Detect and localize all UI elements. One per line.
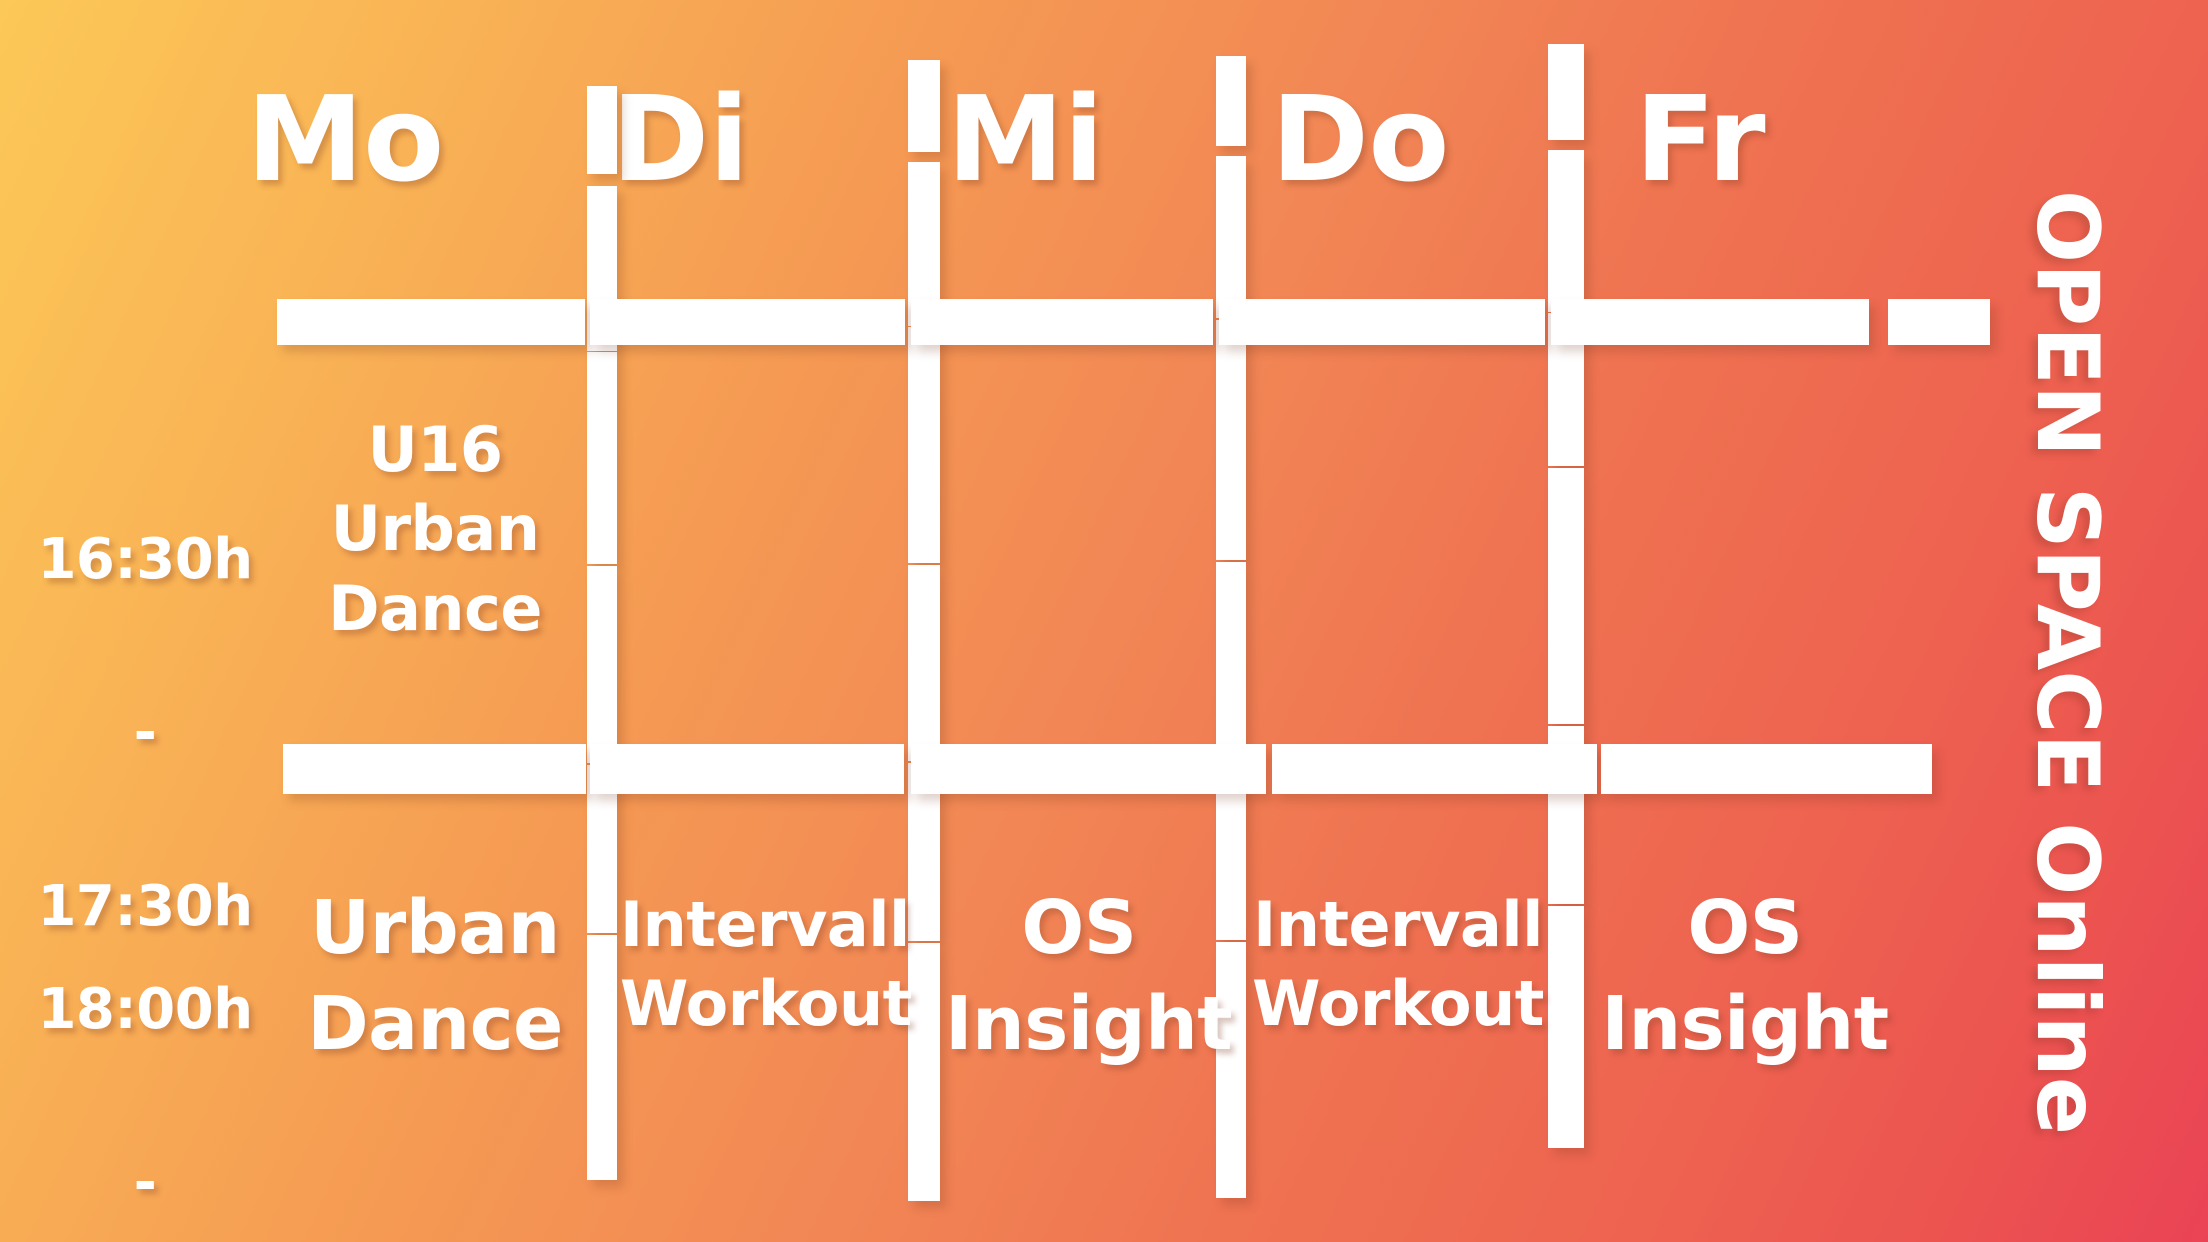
class-cell-mo-1630[interactable]: U16 Urban Dance [285, 410, 585, 648]
class-cell-mo-1800[interactable]: Urban Dance [285, 880, 585, 1072]
grid-divider-vertical-1-seg-4 [587, 566, 617, 763]
grid-divider-vertical-3-seg-3 [1216, 320, 1246, 560]
grid-divider-horizontal-middle-seg-4 [1272, 744, 1597, 794]
grid-divider-horizontal-middle-seg-2 [590, 744, 904, 794]
grid-divider-horizontal-top-seg-6 [1888, 299, 1990, 345]
class-cell-do-1800[interactable]: Intervall Workout [1252, 885, 1544, 1044]
day-header-fr: Fr [1590, 80, 1810, 198]
day-header-mi: Mi [915, 80, 1135, 198]
grid-divider-vertical-4-seg-1 [1548, 44, 1584, 140]
grid-divider-vertical-1-seg-6 [587, 935, 617, 1180]
class-cell-mi-1800[interactable]: OS Insight [945, 880, 1213, 1072]
class-cell-di-1800[interactable]: Intervall Workout [620, 885, 905, 1044]
grid-divider-vertical-2-seg-6 [908, 943, 940, 1201]
grid-divider-horizontal-middle-seg-3 [911, 744, 1266, 794]
grid-divider-vertical-1-seg-3 [587, 352, 617, 564]
side-title-open-space-online: OPEN SPACE Online [2024, 190, 2110, 1135]
grid-divider-vertical-3-seg-4 [1216, 562, 1246, 760]
grid-divider-vertical-4-seg-4 [1548, 468, 1584, 724]
day-header-mo: Mo [235, 80, 455, 198]
grid-divider-horizontal-top-seg-2 [590, 299, 905, 345]
grid-divider-vertical-4-seg-2 [1548, 150, 1584, 312]
grid-divider-horizontal-top-seg-3 [911, 299, 1213, 345]
grid-divider-vertical-2-seg-4 [908, 565, 940, 761]
grid-divider-horizontal-middle-seg-1 [283, 744, 586, 794]
grid-divider-horizontal-top-seg-1 [277, 299, 585, 345]
grid-divider-horizontal-middle-seg-5 [1601, 744, 1932, 794]
grid-divider-vertical-3-seg-2 [1216, 156, 1246, 318]
grid-divider-vertical-1-seg-1 [587, 86, 617, 174]
time-slot-2: 18:00h - 19:00h [0, 880, 290, 1242]
schedule-poster: Mo Di Mi Do Fr 16:30h - 17:30h [0, 0, 2208, 1242]
grid-divider-vertical-2-seg-1 [908, 60, 940, 152]
class-cell-fr-1800[interactable]: OS Insight [1595, 880, 1895, 1072]
time-slot-2-dash: - [0, 1140, 290, 1227]
time-slot-1-dash: - [0, 690, 290, 777]
grid-divider-horizontal-top-seg-4 [1219, 299, 1545, 345]
time-slot-2-start: 18:00h [0, 967, 290, 1054]
grid-divider-vertical-4-seg-6 [1548, 906, 1584, 1148]
grid-divider-vertical-3-seg-1 [1216, 56, 1246, 146]
grid-divider-vertical-2-seg-3 [908, 327, 940, 563]
grid-divider-horizontal-top-seg-5 [1551, 299, 1869, 345]
day-header-do: Do [1250, 80, 1470, 198]
time-slot-1-start: 16:30h [0, 517, 290, 604]
